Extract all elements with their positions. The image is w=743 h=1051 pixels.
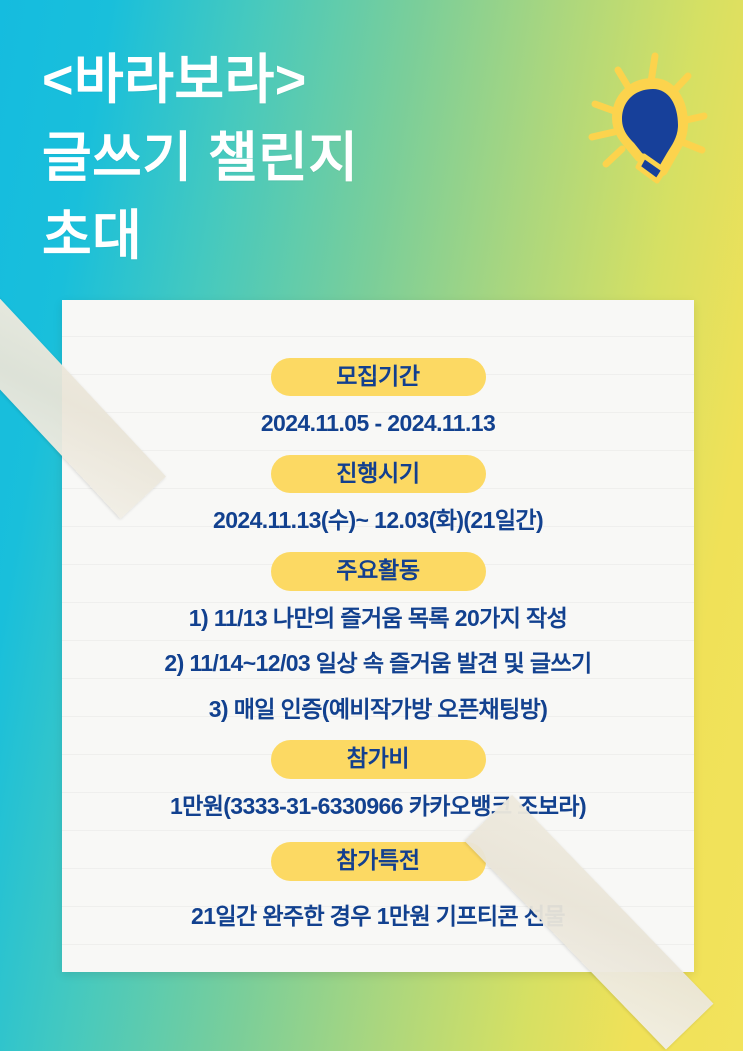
section-badge: 진행시기 — [271, 455, 486, 493]
section-line: 1) 11/13 나만의 즐거움 목록 20가지 작성 — [62, 605, 694, 633]
section-line: 2) 11/14~12/03 일상 속 즐거움 발견 및 글쓰기 — [62, 650, 694, 678]
title-line-2: 글쓰기 챌린지 — [42, 120, 542, 198]
title-line-3: 초대 — [42, 198, 542, 276]
section-badge: 주요활동 — [271, 552, 486, 590]
section-line: 2024.11.13(수)~ 12.03(화)(21일간) — [62, 507, 694, 535]
poster-root: <바라보라> 글쓰기 챌린지 초대 — [0, 0, 743, 1051]
section-badge: 참가비 — [271, 740, 486, 778]
section-recruitment-period: 모집기간 2024.11.05 - 2024.11.13 — [62, 358, 694, 438]
poster-header: <바라보라> 글쓰기 챌린지 초대 — [0, 0, 743, 300]
section-badge: 모집기간 — [271, 358, 486, 396]
section-line: 1만원(3333-31-6330966 카카오뱅크 조보라) — [62, 793, 694, 821]
section-line: 2024.11.05 - 2024.11.13 — [62, 410, 694, 438]
info-card: 모집기간 2024.11.05 - 2024.11.13 진행시기 2024.1… — [62, 300, 694, 972]
section-fee: 참가비 1만원(3333-31-6330966 카카오뱅크 조보라) — [62, 740, 694, 820]
section-line: 3) 매일 인증(예비작가방 오픈채팅방) — [62, 696, 694, 724]
section-main-activities: 주요활동 1) 11/13 나만의 즐거움 목록 20가지 작성 2) 11/1… — [62, 552, 694, 723]
card-content: 모집기간 2024.11.05 - 2024.11.13 진행시기 2024.1… — [62, 358, 694, 930]
title-line-1: <바라보라> — [42, 42, 542, 120]
poster-title: <바라보라> 글쓰기 챌린지 초대 — [42, 42, 542, 275]
torn-paper-edge — [62, 300, 694, 363]
lightbulb-icon — [558, 42, 718, 202]
section-badge: 참가특전 — [271, 842, 486, 880]
